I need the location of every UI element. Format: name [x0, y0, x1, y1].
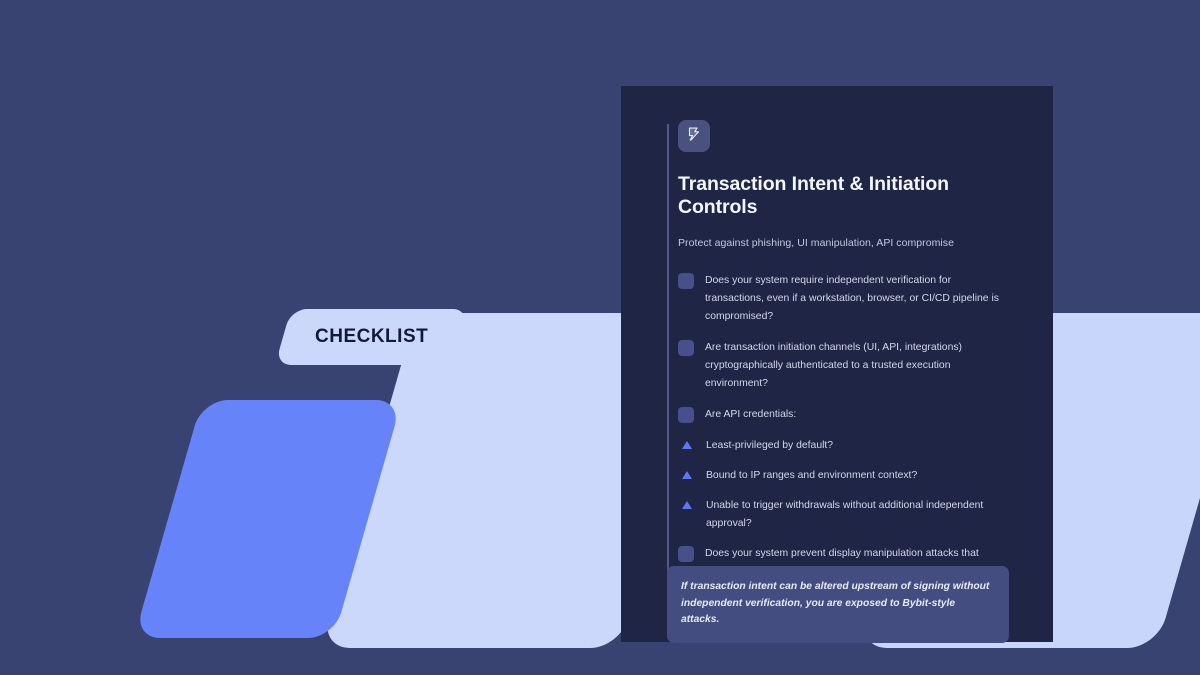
vertical-accent-line	[667, 124, 669, 608]
checklist-subitem[interactable]: Bound to IP ranges and environment conte…	[678, 467, 1031, 485]
warning-callout: If transaction intent can be altered ups…	[667, 566, 1009, 643]
checklist-subitem-label: Least-privileged by default?	[706, 437, 833, 455]
checkbox-icon[interactable]	[678, 273, 694, 289]
slide-canvas: CHECKLIST Transaction Intent & Initiatio…	[0, 0, 1200, 675]
checkbox-icon[interactable]	[678, 546, 694, 562]
checklist-subitem-label: Bound to IP ranges and environment conte…	[706, 467, 917, 485]
checklist-item[interactable]: Are API credentials:	[678, 406, 1031, 424]
triangle-bullet-icon	[682, 471, 692, 479]
checklist-badge-label: CHECKLIST	[315, 326, 428, 348]
checklist-card: Transaction Intent & Initiation Controls…	[621, 86, 1053, 642]
brand-logo-tile	[678, 120, 710, 152]
checklist-subitem[interactable]: Unable to trigger withdrawals without ad…	[678, 497, 1031, 533]
triangle-bullet-icon	[682, 441, 692, 449]
triangle-bullet-icon	[682, 501, 692, 509]
layers-ribbon-icon	[685, 125, 703, 148]
checklist-item[interactable]: Are transaction initiation channels (UI,…	[678, 339, 1031, 393]
warning-callout-text: If transaction intent can be altered ups…	[681, 579, 993, 629]
checklist-item[interactable]: Does your system require independent ver…	[678, 272, 1031, 326]
checklist-subitem-label: Unable to trigger withdrawals without ad…	[706, 497, 996, 533]
checklist-item-label: Does your system require independent ver…	[705, 272, 1005, 326]
card-subtitle: Protect against phishing, UI manipulatio…	[678, 237, 1031, 249]
checkbox-icon[interactable]	[678, 340, 694, 356]
checklist-item-label: Are API credentials:	[705, 406, 796, 424]
checklist-subitem[interactable]: Least-privileged by default?	[678, 437, 1031, 455]
checkbox-icon[interactable]	[678, 407, 694, 423]
checklist-item-label: Are transaction initiation channels (UI,…	[705, 339, 1005, 393]
checklist-badge: CHECKLIST	[275, 309, 469, 365]
checklist-item-list: Does your system require independent ver…	[678, 272, 1031, 581]
card-title: Transaction Intent & Initiation Controls	[678, 173, 958, 219]
